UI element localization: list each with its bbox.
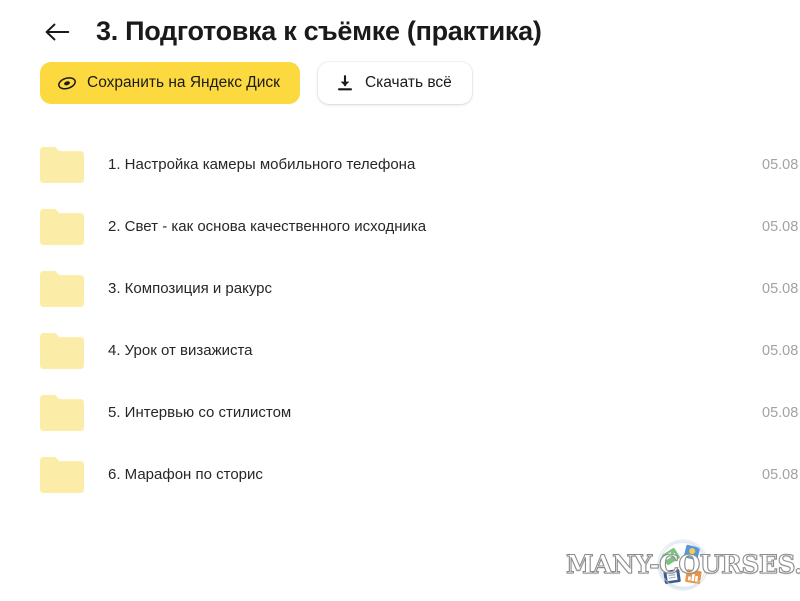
file-name: 3. Композиция и ракурс <box>108 280 272 298</box>
folder-icon <box>38 207 86 247</box>
file-row[interactable]: 3. Композиция и ракурс 05.08 <box>0 258 800 320</box>
file-row[interactable]: 1. Настройка камеры мобильного телефона … <box>0 134 800 196</box>
save-to-yandex-disk-button[interactable]: Сохранить на Яндекс Диск <box>40 62 300 104</box>
file-date: 05.08 <box>762 281 798 297</box>
file-date: 05.08 <box>762 467 798 483</box>
file-date: 05.08 <box>762 157 798 173</box>
folder-icon <box>38 331 86 371</box>
file-date: 05.08 <box>762 219 798 235</box>
file-name: 1. Настройка камеры мобильного телефона <box>108 156 415 174</box>
folder-icon <box>38 455 86 495</box>
yandex-disk-icon <box>57 73 77 93</box>
folder-icon <box>38 145 86 185</box>
download-all-button[interactable]: Скачать всё <box>318 62 472 104</box>
arrow-left-icon <box>44 21 70 43</box>
file-name: 5. Интервью со стилистом <box>108 404 291 422</box>
watermark-text: MANY-COURSES.NET <box>566 552 798 577</box>
download-icon <box>335 73 355 93</box>
file-list: 1. Настройка камеры мобильного телефона … <box>0 134 800 506</box>
file-row[interactable]: 5. Интервью со стилистом 05.08 <box>0 382 800 444</box>
watermark: MANY-COURSES.NET <box>566 534 798 596</box>
file-date: 05.08 <box>762 405 798 421</box>
file-browser-page: 3. Подготовка к съёмке (практика) Сохран… <box>0 0 800 601</box>
file-name: 2. Свет - как основа качественного исход… <box>108 218 426 236</box>
back-button[interactable] <box>40 15 74 49</box>
file-row[interactable]: 4. Урок от визажиста 05.08 <box>0 320 800 382</box>
folder-icon <box>38 269 86 309</box>
file-row[interactable]: 2. Свет - как основа качественного исход… <box>0 196 800 258</box>
toolbar: Сохранить на Яндекс Диск Скачать всё <box>0 62 800 104</box>
download-all-label: Скачать всё <box>365 75 452 91</box>
page-header: 3. Подготовка к съёмке (практика) <box>0 0 800 46</box>
save-to-yandex-disk-label: Сохранить на Яндекс Диск <box>87 75 280 91</box>
file-name: 6. Марафон по сторис <box>108 466 263 484</box>
file-name: 4. Урок от визажиста <box>108 342 253 360</box>
file-date: 05.08 <box>762 343 798 359</box>
globe-courses-logo-icon <box>652 534 714 596</box>
folder-icon <box>38 393 86 433</box>
file-row[interactable]: 6. Марафон по сторис 05.08 <box>0 444 800 506</box>
page-title: 3. Подготовка к съёмке (практика) <box>96 17 542 47</box>
